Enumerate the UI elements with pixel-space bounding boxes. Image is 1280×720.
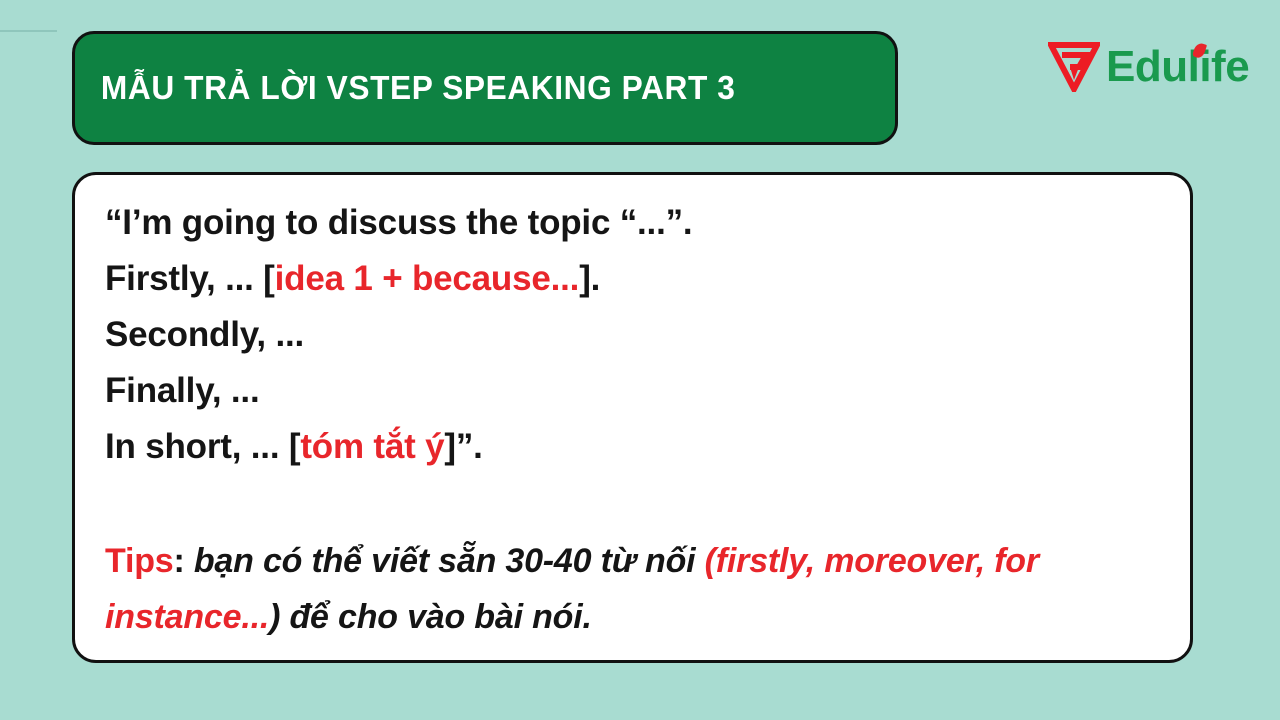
script-segment: ]. <box>579 259 600 298</box>
script-line: Secondly, ... <box>105 307 1160 363</box>
script-line: Firstly, ... [idea 1 + because...]. <box>105 251 1160 307</box>
page-title: MẪU TRẢ LỜI VSTEP SPEAKING PART 3 <box>75 69 735 107</box>
answer-template-card: “I’m going to discuss the topic “...”. F… <box>72 172 1193 663</box>
script-segment-highlight: tóm tắt ý <box>300 427 444 466</box>
script-line: “I’m going to discuss the topic “...”. <box>105 195 1160 251</box>
slide-canvas: MẪU TRẢ LỜI VSTEP SPEAKING PART 3 Edulif… <box>0 0 1280 720</box>
script-segment: Secondly, ... <box>105 315 304 354</box>
script-segment-highlight: idea 1 + because... <box>275 259 580 298</box>
script-segment: Finally, ... <box>105 371 260 410</box>
logo-wordmark: Edulife <box>1106 45 1249 89</box>
edulife-triangle-logo-icon <box>1048 42 1100 92</box>
tips-text-part1: bạn có thể viết sẵn 30-40 từ nối <box>194 542 705 580</box>
tips-label: Tips <box>105 542 173 580</box>
script-segment: In short, ... [ <box>105 427 300 466</box>
logo-wordmark-text: Edulife <box>1106 42 1249 91</box>
tips-text-part2: ) để cho vào bài nói. <box>269 598 592 636</box>
tips-paragraph: Tips: bạn có thể viết sẵn 30-40 từ nối (… <box>105 533 1160 645</box>
script-segment: “I’m going to discuss the topic “...”. <box>105 203 692 242</box>
script-segment: Firstly, ... [ <box>105 259 275 298</box>
script-line: Finally, ... <box>105 363 1160 419</box>
script-segment: ]”. <box>444 427 482 466</box>
title-banner: MẪU TRẢ LỜI VSTEP SPEAKING PART 3 <box>72 31 898 145</box>
script-line: In short, ... [tóm tắt ý]”. <box>105 419 1160 475</box>
brand-logo: Edulife <box>1048 38 1249 96</box>
decorative-rule <box>0 30 57 32</box>
tips-colon: : <box>173 542 193 580</box>
